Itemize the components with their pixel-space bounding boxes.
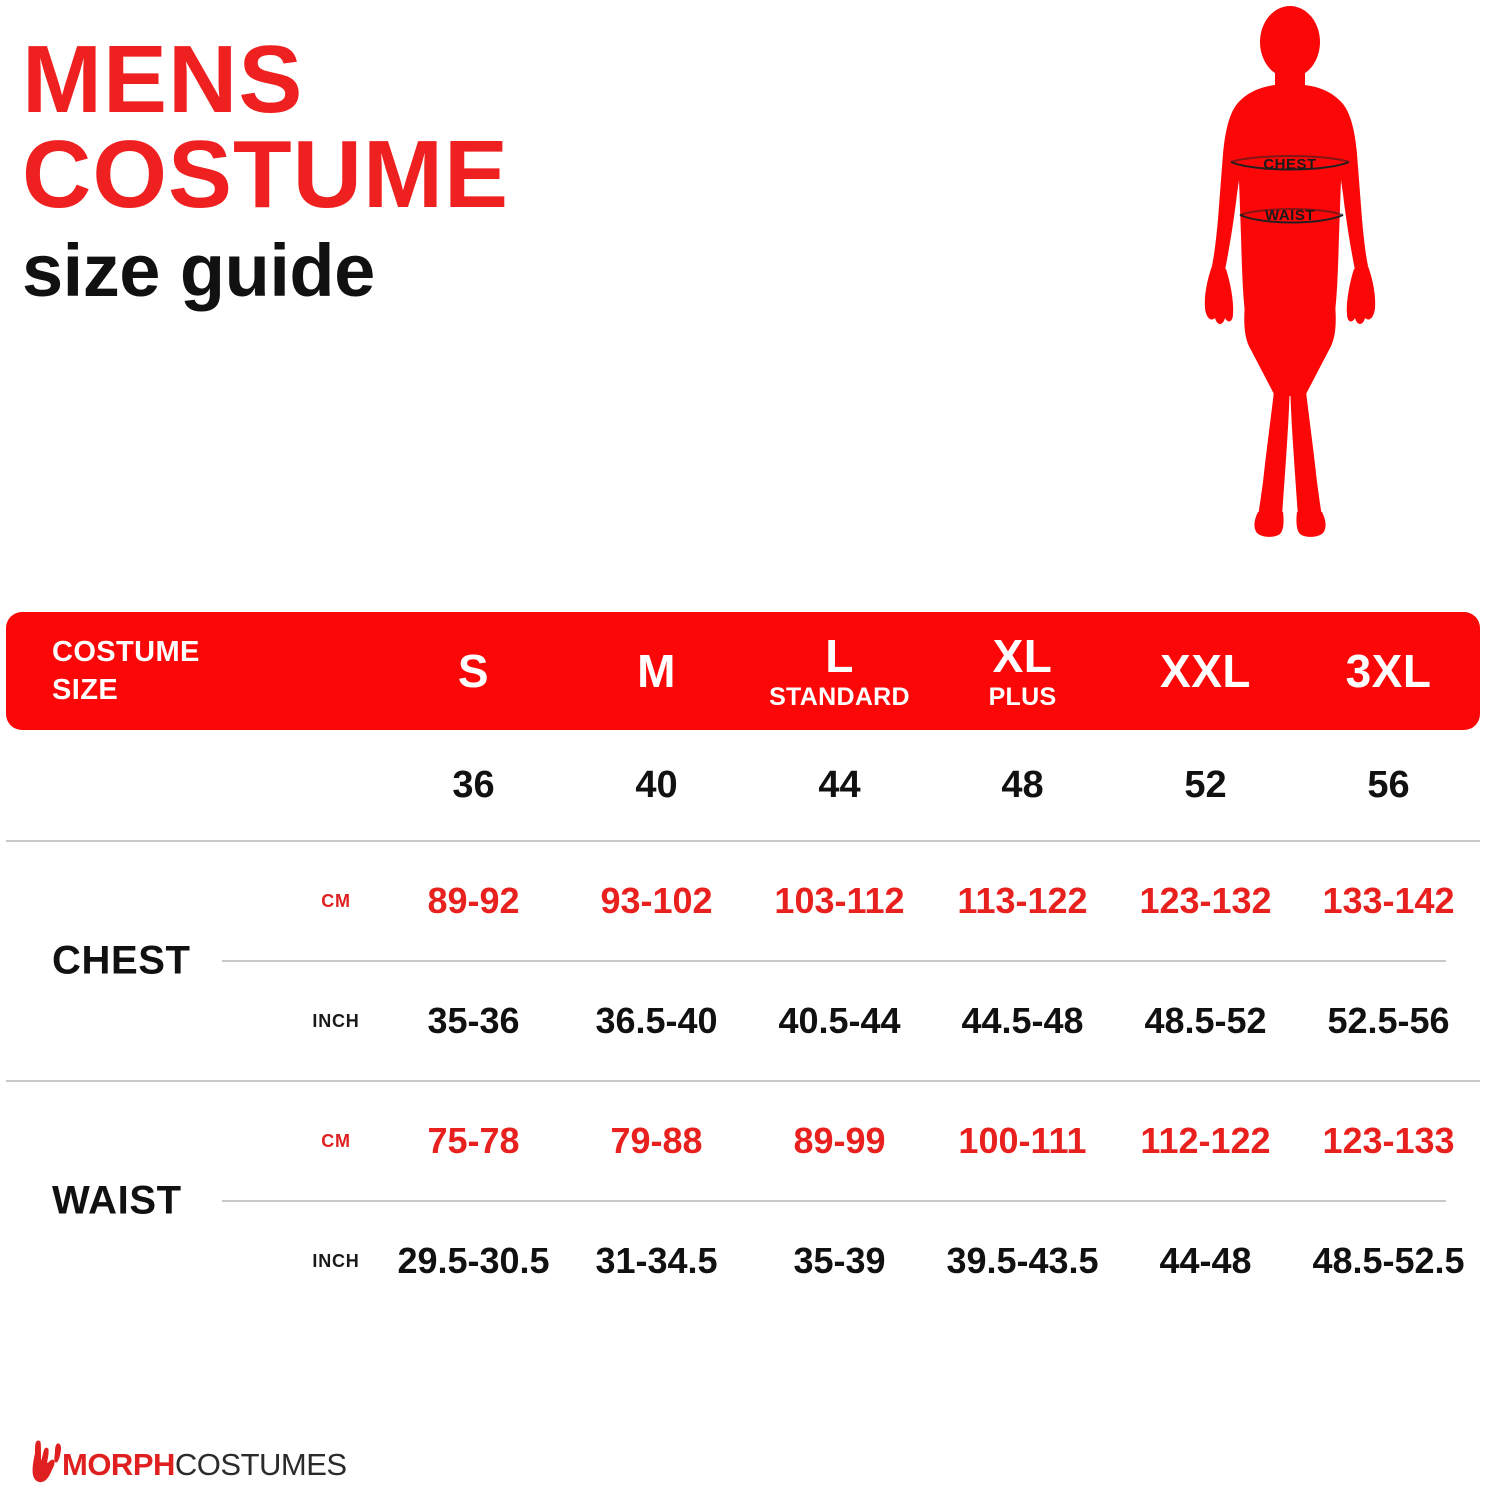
table-cell: 31-34.5 xyxy=(565,1240,748,1282)
male-body-silhouette-icon xyxy=(1185,4,1395,554)
table-header-row: COSTUME SIZE S M L STANDARD XL PLUS XXL … xyxy=(6,612,1480,730)
size-label-main: S xyxy=(382,648,565,694)
unit-label-cm: CM xyxy=(321,891,351,911)
measurement-value: 48.5-52 xyxy=(1144,1000,1266,1041)
waist-inch-row: INCH 29.5-30.5 31-34.5 35-39 39.5-43.5 4… xyxy=(6,1202,1480,1320)
table-cell: 52 xyxy=(1114,764,1297,807)
measurement-value: 44-48 xyxy=(1159,1240,1251,1281)
figure-chest-label: CHEST xyxy=(1230,156,1350,173)
unit-label-inch: INCH xyxy=(312,1251,359,1271)
table-cell: 75-78 xyxy=(382,1120,565,1162)
table-cell: 113-122 xyxy=(931,880,1114,922)
size-label-main: XL xyxy=(931,633,1114,679)
measurement-value: 35-36 xyxy=(427,1000,519,1041)
measurement-value: 44.5-48 xyxy=(961,1000,1083,1041)
measurement-value: 103-112 xyxy=(774,880,904,921)
measurement-value: 31-34.5 xyxy=(595,1240,717,1281)
table-cell: 100-111 xyxy=(931,1120,1114,1162)
brand-name-primary: MORPH xyxy=(62,1447,175,1482)
unit-label-inch: INCH xyxy=(312,1011,359,1031)
chest-inch-row: INCH 35-36 36.5-40 40.5-44 44.5-48 48.5-… xyxy=(6,962,1480,1080)
table-cell: 123-133 xyxy=(1297,1120,1480,1162)
measurement-value: 133-142 xyxy=(1322,880,1454,921)
size-label-main: XXL xyxy=(1114,648,1297,694)
brand-logo-text: MORPHCOSTUMES xyxy=(62,1449,347,1480)
table-cell: 48.5-52.5 xyxy=(1297,1240,1480,1282)
numeric-value: 44 xyxy=(818,764,860,806)
table-cell: 48.5-52 xyxy=(1114,1000,1297,1042)
figure-waist-label: WAIST xyxy=(1230,207,1350,224)
table-header-label-cell: COSTUME SIZE xyxy=(6,633,290,710)
table-cell: 44-48 xyxy=(1114,1240,1297,1282)
table-cell: 35-39 xyxy=(748,1240,931,1282)
table-header-size-xl: XL PLUS xyxy=(931,633,1114,710)
numeric-value: 36 xyxy=(452,764,494,806)
size-label-main: L xyxy=(748,633,931,679)
waist-cm-row: CM 75-78 79-88 89-99 100-111 112-122 123… xyxy=(6,1082,1480,1200)
table-cell: 93-102 xyxy=(565,880,748,922)
measurement-value: 29.5-30.5 xyxy=(397,1240,549,1281)
brand-logo[interactable]: MORPHCOSTUMES xyxy=(28,1437,347,1483)
size-label-sub: STANDARD xyxy=(748,685,931,710)
numeric-value: 40 xyxy=(635,764,677,806)
table-cell: 56 xyxy=(1297,764,1480,807)
measurement-value: 75-78 xyxy=(427,1120,519,1161)
brand-name-secondary: COSTUMES xyxy=(175,1447,347,1482)
measurement-value: 35-39 xyxy=(793,1240,885,1281)
numeric-value: 48 xyxy=(1001,764,1043,806)
group-label-waist: WAIST xyxy=(52,1179,182,1224)
measurement-value: 40.5-44 xyxy=(778,1000,900,1041)
title-line-two: COSTUME xyxy=(22,129,682,220)
table-cell: 29.5-30.5 xyxy=(382,1240,565,1282)
measurement-value: 113-122 xyxy=(957,880,1087,921)
measurement-group-waist: WAIST CM 75-78 79-88 89-99 100-111 112-1… xyxy=(6,1082,1480,1320)
measurement-value: 89-92 xyxy=(427,880,519,921)
measurement-value: 112-122 xyxy=(1140,1120,1270,1161)
unit-cell: INCH xyxy=(290,1011,382,1032)
page-subtitle: size guide xyxy=(22,234,682,308)
measurement-value: 123-132 xyxy=(1139,880,1271,921)
table-cell: 35-36 xyxy=(382,1000,565,1042)
table-cell: 40.5-44 xyxy=(748,1000,931,1042)
table-cell: 89-99 xyxy=(748,1120,931,1162)
table-header-size-3xl: 3XL xyxy=(1297,648,1480,694)
unit-cell: CM xyxy=(290,891,382,912)
measurement-value: 36.5-40 xyxy=(595,1000,717,1041)
table-cell: 112-122 xyxy=(1114,1120,1297,1162)
table-header-size-l: L STANDARD xyxy=(748,633,931,710)
table-cell: 36 xyxy=(382,764,565,807)
size-label-sub: PLUS xyxy=(931,685,1114,710)
measurement-value: 79-88 xyxy=(610,1120,702,1161)
table-cell: 52.5-56 xyxy=(1297,1000,1480,1042)
table-cell: 133-142 xyxy=(1297,880,1480,922)
table-header-size-m: M xyxy=(565,648,748,694)
numeric-size-row: 36 40 44 48 52 56 xyxy=(6,730,1480,840)
title-line-one: MENS xyxy=(22,34,682,125)
measurement-value: 89-99 xyxy=(793,1120,885,1161)
table-header-size-xxl: XXL xyxy=(1114,648,1297,694)
table-cell: 79-88 xyxy=(565,1120,748,1162)
measurement-group-chest: CHEST CM 89-92 93-102 103-112 113-122 12… xyxy=(6,842,1480,1080)
size-label-main: M xyxy=(565,648,748,694)
measurement-value: 93-102 xyxy=(600,880,712,921)
table-header-size-s: S xyxy=(382,648,565,694)
body-measurement-figure: CHEST WAIST xyxy=(1185,4,1395,554)
page-title: MENS COSTUME size guide xyxy=(22,34,682,308)
table-cell: 48 xyxy=(931,764,1114,807)
size-chart-table: COSTUME SIZE S M L STANDARD XL PLUS XXL … xyxy=(6,612,1480,1320)
table-cell: 44 xyxy=(748,764,931,807)
unit-label-cm: CM xyxy=(321,1131,351,1151)
unit-cell: CM xyxy=(290,1131,382,1152)
numeric-value: 56 xyxy=(1367,764,1409,806)
chest-cm-row: CM 89-92 93-102 103-112 113-122 123-132 … xyxy=(6,842,1480,960)
table-cell: 89-92 xyxy=(382,880,565,922)
group-label-chest: CHEST xyxy=(52,939,191,984)
numeric-value: 52 xyxy=(1184,764,1226,806)
table-cell: 44.5-48 xyxy=(931,1000,1114,1042)
measurement-value: 48.5-52.5 xyxy=(1312,1240,1464,1281)
table-cell: 103-112 xyxy=(748,880,931,922)
unit-cell: INCH xyxy=(290,1251,382,1272)
costume-size-header-text: COSTUME SIZE xyxy=(52,636,200,706)
table-cell: 40 xyxy=(565,764,748,807)
table-cell: 123-132 xyxy=(1114,880,1297,922)
measurement-value: 123-133 xyxy=(1322,1120,1454,1161)
size-label-main: 3XL xyxy=(1297,648,1480,694)
table-cell: 39.5-43.5 xyxy=(931,1240,1114,1282)
measurement-value: 100-111 xyxy=(958,1120,1086,1161)
measurement-value: 52.5-56 xyxy=(1327,1000,1449,1041)
measurement-value: 39.5-43.5 xyxy=(946,1240,1098,1281)
table-cell: 36.5-40 xyxy=(565,1000,748,1042)
